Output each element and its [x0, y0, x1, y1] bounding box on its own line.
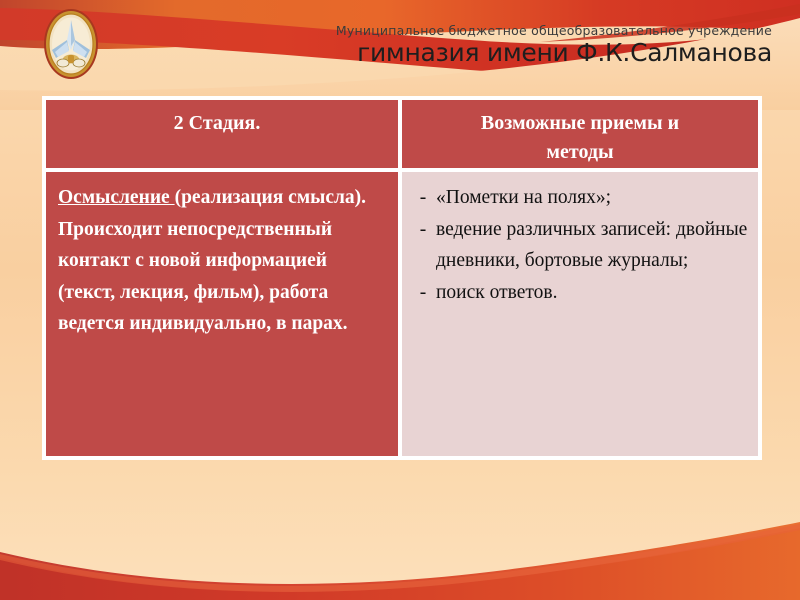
methods-list: - «Пометки на полях»; - ведение различны… — [402, 172, 758, 318]
list-item: - поиск ответов. — [410, 277, 748, 309]
body-cell-methods: - «Пометки на полях»; - ведение различны… — [400, 170, 760, 458]
dash-marker: - — [410, 214, 436, 246]
dash-marker: - — [410, 182, 436, 214]
table-body-row: Осмысление (реализация смысла). Происход… — [44, 170, 760, 458]
dash-marker: - — [410, 277, 436, 309]
school-emblem-icon — [42, 6, 100, 82]
header-cell-stage: 2 Стадия. — [44, 98, 400, 170]
list-item-text: «Пометки на полях»; — [436, 182, 748, 214]
list-item-text: поиск ответов. — [436, 277, 748, 309]
wave-bottom-dark — [0, 528, 800, 600]
list-item-text: ведение различных записей: двойные дневн… — [436, 214, 748, 277]
description-rest: (реализация смысла). Происходит непосред… — [58, 187, 366, 334]
header-methods-line1: Возможные приемы и — [481, 112, 679, 134]
list-item: - ведение различных записей: двойные дне… — [410, 214, 748, 277]
organization-line: Муниципальное бюджетное общеобразователь… — [336, 24, 772, 37]
header-titles: Муниципальное бюджетное общеобразователь… — [336, 24, 772, 66]
slide-canvas: Муниципальное бюджетное общеобразователь… — [0, 0, 800, 600]
wave-bottom-highlight — [0, 524, 800, 592]
table-header-row: 2 Стадия. Возможные приемы и методы — [44, 98, 760, 170]
header-cell-stage-label: 2 Стадия. — [46, 100, 398, 138]
header-methods-line2: методы — [546, 141, 613, 163]
body-cell-description: Осмысление (реализация смысла). Происход… — [44, 170, 400, 458]
header-cell-methods-label: Возможные приемы и методы — [402, 100, 758, 167]
bottom-wave-decoration — [0, 480, 800, 600]
description-keyword: Осмысление — [58, 187, 175, 208]
content-table: 2 Стадия. Возможные приемы и методы Осмы… — [44, 98, 760, 458]
list-item: - «Пометки на полях»; — [410, 182, 748, 214]
wave-bottom-red — [0, 522, 800, 600]
description-text: Осмысление (реализация смысла). Происход… — [46, 172, 398, 350]
header-cell-methods: Возможные приемы и методы — [400, 98, 760, 170]
school-name-line: гимназия имени Ф.К.Салманова — [336, 40, 772, 66]
